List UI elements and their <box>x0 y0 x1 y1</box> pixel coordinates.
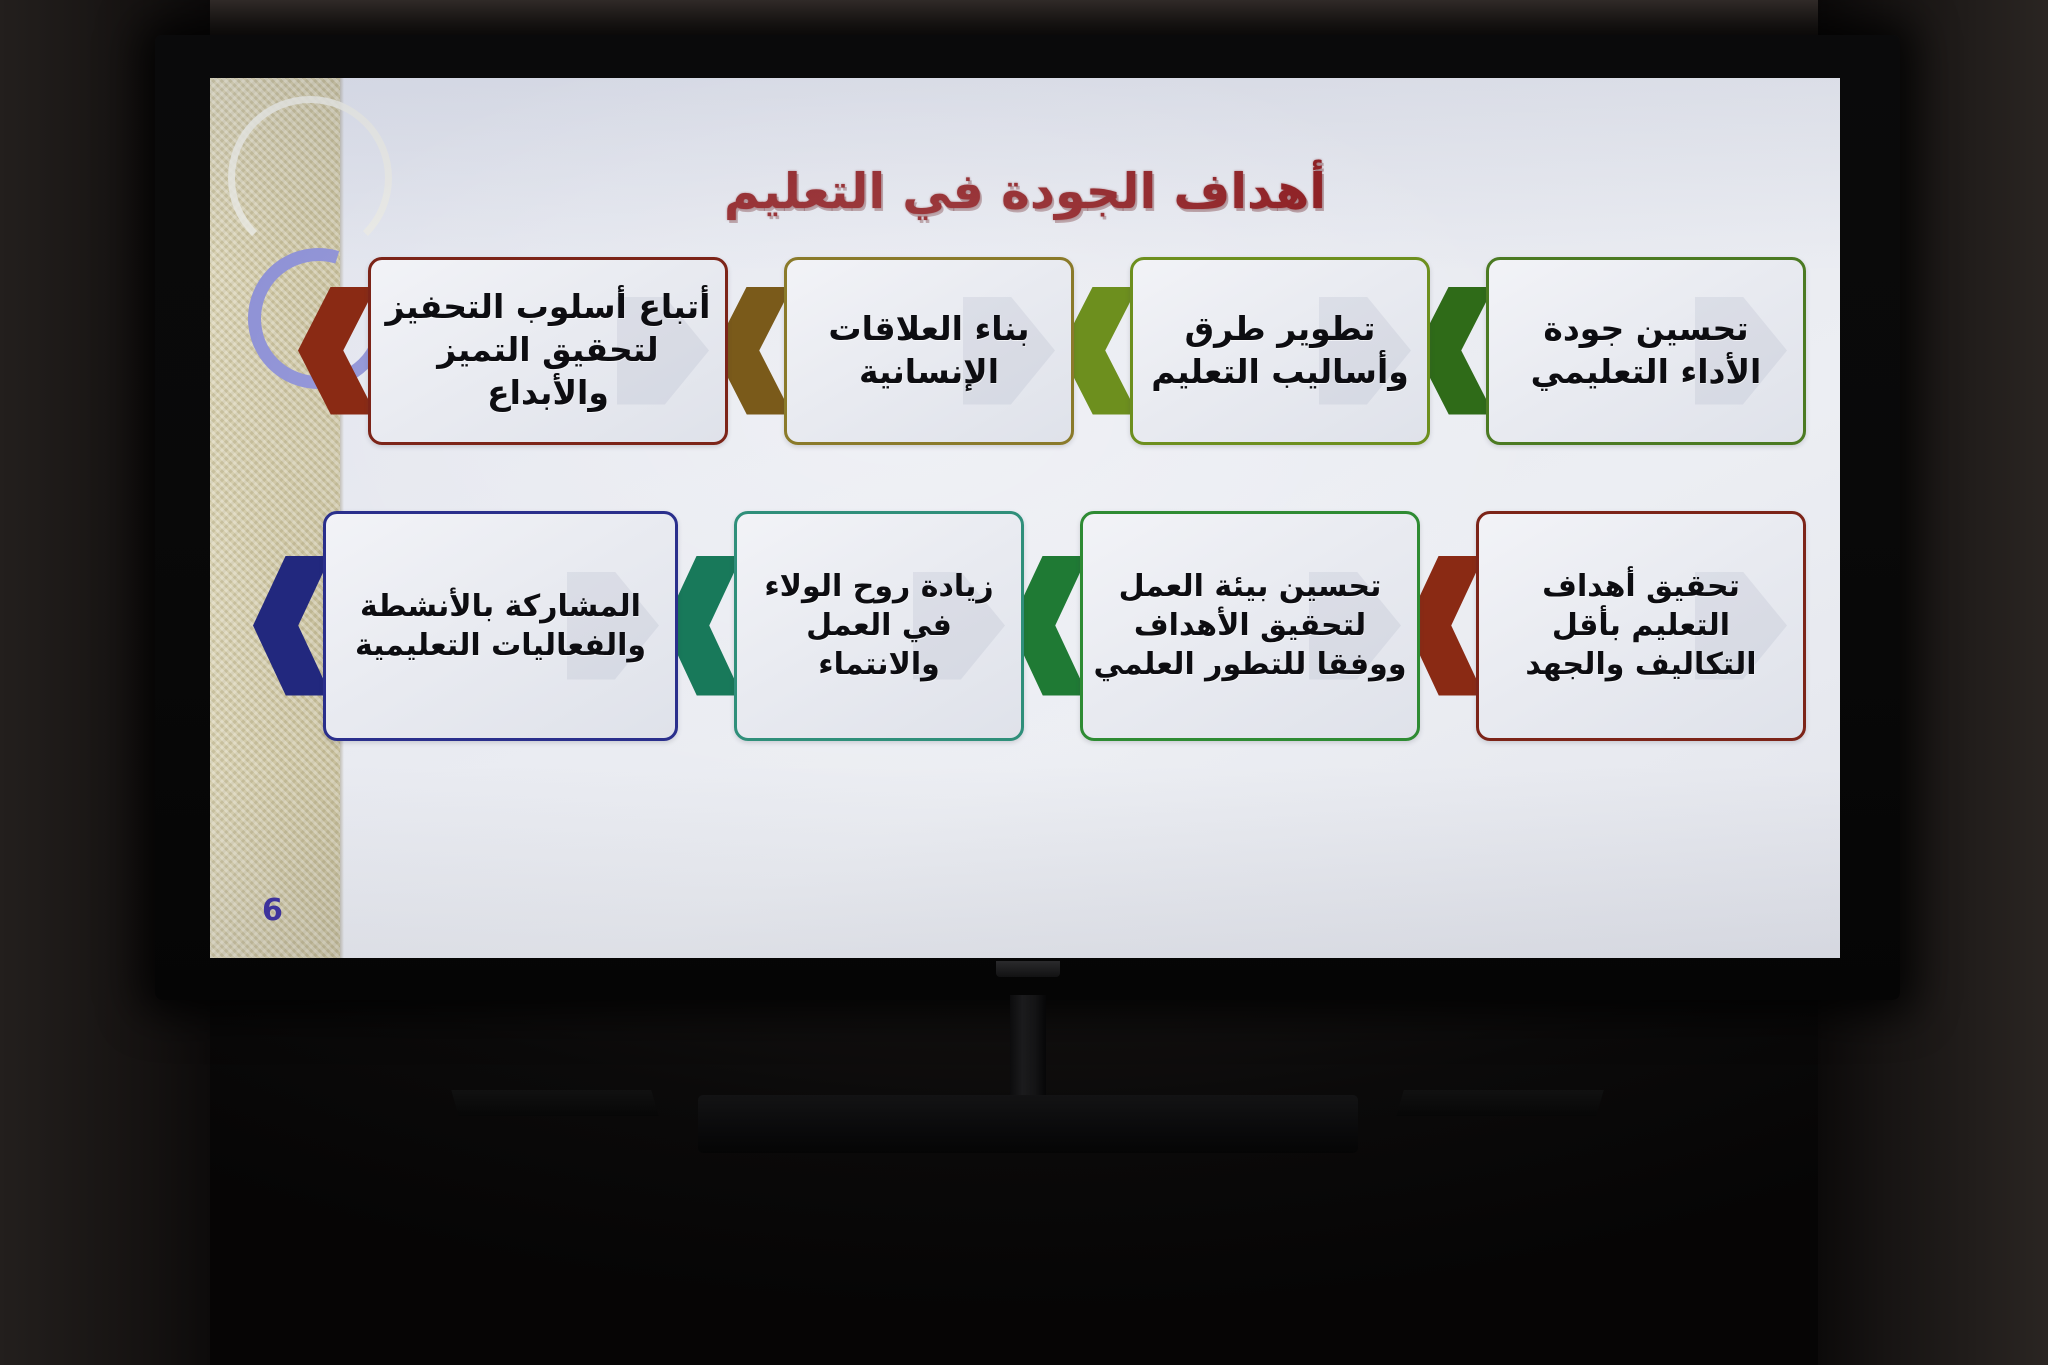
monitor-screen: أهداف الجودة في التعليم تحسين جودة الأدا… <box>210 78 1840 958</box>
process-row-1: تحسين جودة الأداء التعليميتطوير طرق وأسا… <box>305 243 1806 458</box>
monitor-stand-foot-left <box>451 1090 658 1116</box>
slide-page-number: 6 <box>262 893 283 928</box>
process-step-box: تحقيق أهداف التعليم بأقل التكاليف والجهد <box>1476 511 1806 741</box>
process-step-label: تحسين جودة الأداء التعليمي <box>1499 308 1793 394</box>
process-step: المشاركة بالأنشطة والفعاليات التعليمية <box>267 518 678 733</box>
process-step: بناء العلاقات الإنسانية <box>728 243 1074 458</box>
process-step: تطوير طرق وأساليب التعليم <box>1074 243 1430 458</box>
process-step-label: تطوير طرق وأساليب التعليم <box>1143 308 1417 394</box>
process-step: زيادة روح الولاء في العمل والانتماء <box>678 518 1024 733</box>
process-step-label: زيادة روح الولاء في العمل والانتماء <box>747 567 1011 684</box>
process-step-label: المشاركة بالأنشطة والفعاليات التعليمية <box>336 587 665 665</box>
process-step-label: تحقيق أهداف التعليم بأقل التكاليف والجهد <box>1489 567 1793 684</box>
monitor-stand-foot-right <box>1396 1090 1603 1116</box>
process-step-box: زيادة روح الولاء في العمل والانتماء <box>734 511 1024 741</box>
monitor-logo-notch <box>996 961 1060 977</box>
process-step: أتباع أسلوب التحفيز لتحقيق التميز والأبد… <box>312 243 728 458</box>
process-step: تحسين جودة الأداء التعليمي <box>1430 243 1806 458</box>
process-step-box: بناء العلاقات الإنسانية <box>784 257 1074 445</box>
process-step: تحقيق أهداف التعليم بأقل التكاليف والجهد <box>1420 518 1806 733</box>
presentation-slide: أهداف الجودة في التعليم تحسين جودة الأدا… <box>210 78 1840 958</box>
process-step-box: أتباع أسلوب التحفيز لتحقيق التميز والأبد… <box>368 257 728 445</box>
display-monitor: أهداف الجودة في التعليم تحسين جودة الأدا… <box>155 35 1900 1305</box>
monitor-stand-base <box>698 1095 1358 1153</box>
process-step: تحسين بيئة العمل لتحقيق الأهداف ووفقا لل… <box>1024 518 1420 733</box>
process-step-label: بناء العلاقات الإنسانية <box>797 308 1061 394</box>
monitor-bezel: أهداف الجودة في التعليم تحسين جودة الأدا… <box>155 35 1900 1000</box>
process-row-2: تحقيق أهداف التعليم بأقل التكاليف والجهد… <box>305 518 1806 733</box>
process-step-box: تحسين بيئة العمل لتحقيق الأهداف ووفقا لل… <box>1080 511 1420 741</box>
process-step-label: أتباع أسلوب التحفيز لتحقيق التميز والأبد… <box>381 286 715 415</box>
process-step-box: تطوير طرق وأساليب التعليم <box>1130 257 1430 445</box>
process-step-box: تحسين جودة الأداء التعليمي <box>1486 257 1806 445</box>
process-step-box: المشاركة بالأنشطة والفعاليات التعليمية <box>323 511 678 741</box>
chevron-arrow-icon <box>298 287 376 415</box>
slide-title: أهداف الجودة في التعليم <box>210 163 1840 220</box>
process-step-label: تحسين بيئة العمل لتحقيق الأهداف ووفقا لل… <box>1093 567 1407 684</box>
